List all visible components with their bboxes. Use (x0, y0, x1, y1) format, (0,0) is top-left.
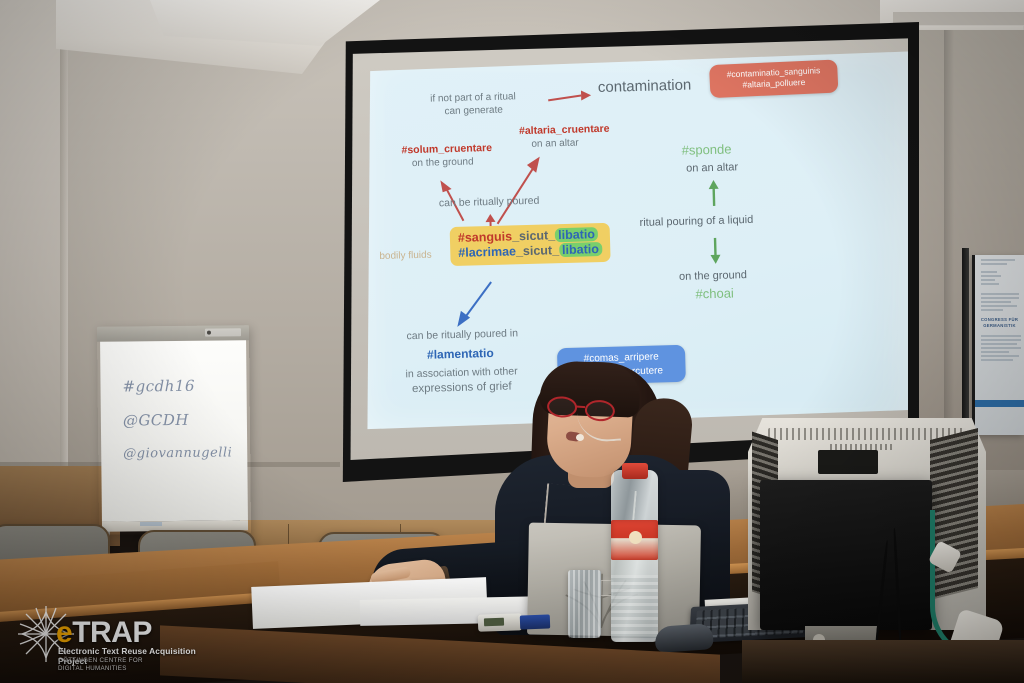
poster-frame-edge (962, 248, 969, 444)
desk-shadow-right (742, 640, 1024, 683)
black-monitor-rear (760, 480, 932, 630)
left-wall-panel (0, 0, 66, 470)
etrap-wordmark-e: e (56, 616, 72, 649)
bottle-label-emblem (629, 531, 642, 544)
bottle-ridges (611, 575, 658, 641)
lens-left (546, 395, 577, 418)
flipchart-line-2: @GCDH (123, 402, 232, 437)
clicker-display (484, 618, 504, 627)
poster-heading-line2: GERMANISTIK (975, 323, 1024, 328)
etrap-affiliation-line2: DIGITAL HUMANITIES (58, 665, 143, 673)
computer-mouse (654, 623, 714, 653)
flipchart-line-3: @giovannugelli (123, 436, 232, 471)
etrap-wordmark: eTRAP (56, 616, 152, 650)
etrap-affiliation-line1: GÖTTINGEN CENTRE FOR (58, 657, 143, 665)
poster-blue-band (975, 400, 1024, 407)
bottle-cap (622, 463, 648, 479)
flipchart-footer-mark (140, 522, 162, 526)
photograph-scene: if not part of a ritual can generate con… (0, 0, 1024, 683)
etrap-affiliation: GÖTTINGEN CENTRE FOR DIGITAL HUMANITIES (58, 657, 143, 673)
etrap-watermark: eTRAP Electronic Text Reuse Acquisition … (14, 600, 214, 676)
flipchart-paper: #gcdh16 @GCDH @giovannugelli (100, 340, 248, 522)
poster-heading-line1: CONGRESS FÜR (975, 317, 1024, 322)
etrap-wordmark-rest: TRAP (72, 616, 152, 649)
flipchart-line-1: #gcdh16 (122, 368, 231, 403)
flipchart-header-bar (97, 325, 249, 342)
flipchart: #gcdh16 @GCDH @giovannugelli (97, 325, 251, 535)
wall-poster: CONGRESS FÜR GERMANISTIK (972, 255, 1024, 435)
usb-stick (520, 614, 550, 629)
flipchart-handwriting: #gcdh16 @GCDH @giovannugelli (122, 368, 232, 471)
white-monitor-neck (818, 450, 878, 474)
metal-tumbler (568, 570, 601, 638)
glasses-bridge (576, 405, 585, 408)
headset-mic-tip (576, 434, 584, 441)
flipchart-brand-badge (205, 328, 241, 336)
left-wall-edge (60, 0, 68, 470)
